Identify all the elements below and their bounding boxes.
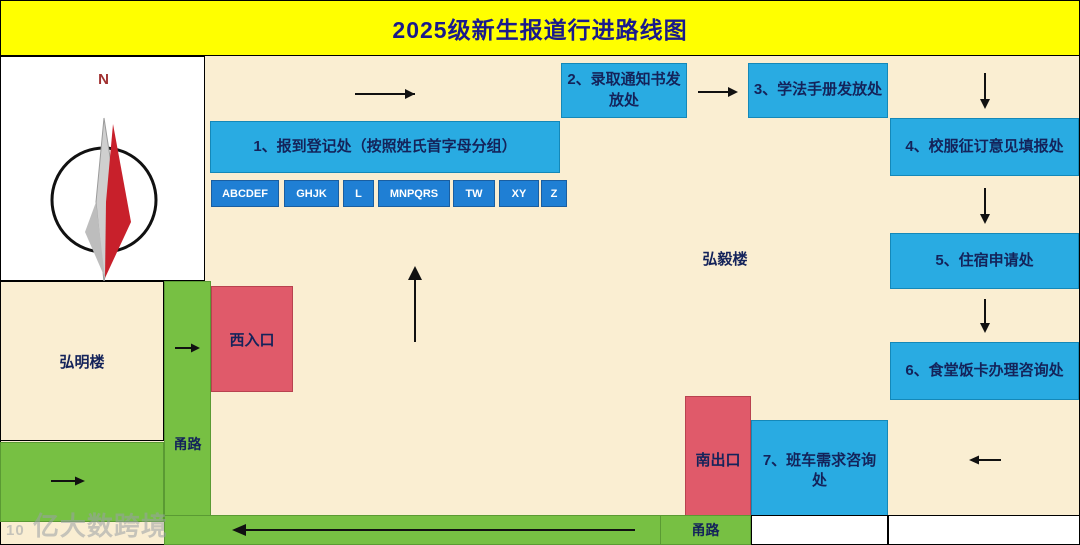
entrance-south[interactable]: 南出口 <box>685 396 751 522</box>
station-2[interactable]: 2、录取通知书发放处 <box>561 63 687 118</box>
path-yonglu-vertical: 甬路 <box>164 281 211 522</box>
group-tag-l[interactable]: L <box>343 180 374 207</box>
group-tag-label: GHJK <box>296 188 327 200</box>
building-hongming-label: 弘明楼 <box>59 351 104 372</box>
arrow-down-to-station4 <box>890 63 1079 118</box>
station-4[interactable]: 4、校服征订意见填报处 <box>890 118 1079 176</box>
arrow-left-to-station7 <box>890 440 1079 480</box>
arrow-station2-to-station3 <box>690 78 746 106</box>
watermark-prefix: 10 <box>6 522 25 539</box>
arrow-right-icon <box>47 472 93 490</box>
arrow-bottom-left-in <box>40 468 100 494</box>
group-tag-label: L <box>355 188 362 200</box>
arrow-up-icon <box>395 262 435 348</box>
group-tag-label: MNPQRS <box>390 188 438 200</box>
bottom-white-cell-left <box>751 515 888 545</box>
group-tag-label: ABCDEF <box>222 188 268 200</box>
watermark-text: 亿大数跨境 <box>33 511 168 541</box>
station-6[interactable]: 6、食堂饭卡办理咨询处 <box>890 342 1079 400</box>
station-3-label: 3、学法手册发放处 <box>754 80 882 100</box>
arrow-down-icon <box>975 184 995 228</box>
arrow-right-icon <box>215 84 555 104</box>
watermark: 10 亿大数跨境 <box>6 506 168 543</box>
arrow-up-main-path <box>395 262 435 348</box>
group-tag-mnpqrs[interactable]: MNPQRS <box>378 180 450 207</box>
arrow-down-icon <box>975 295 995 337</box>
station-2-label: 2、录取通知书发放处 <box>566 70 682 111</box>
arrow-top-to-station2 <box>210 78 560 110</box>
station-5-label: 5、住宿申请处 <box>935 251 1033 271</box>
group-tag-z[interactable]: Z <box>541 180 567 207</box>
compass-rose-icon <box>1 82 206 282</box>
building-hongyi-label: 弘毅楼 <box>640 243 810 273</box>
station-7[interactable]: 7、班车需求咨询处 <box>751 420 888 522</box>
group-tag-ghjk[interactable]: GHJK <box>284 180 339 207</box>
group-tag-abcdef[interactable]: ABCDEF <box>211 180 279 207</box>
station-5[interactable]: 5、住宿申请处 <box>890 233 1079 289</box>
station-3[interactable]: 3、学法手册发放处 <box>748 63 888 118</box>
entrance-west-label: 西入口 <box>229 329 274 350</box>
yonglu-left-label: 甬路 <box>174 434 202 454</box>
station-7-label: 7、班车需求咨询处 <box>758 451 881 492</box>
compass-box: N <box>0 56 205 281</box>
arrow-west-entrance <box>164 335 211 361</box>
station-6-label: 6、食堂饭卡办理咨询处 <box>905 361 1063 381</box>
yonglu-bottom-label: 甬路 <box>692 520 720 540</box>
group-tag-label: TW <box>465 188 482 200</box>
station-4-label: 4、校服征订意见填报处 <box>905 137 1063 157</box>
page-title: 2025级新生报道行进路线图 <box>392 11 687 45</box>
group-tag-label: XY <box>512 188 527 200</box>
building-hongyi-text: 弘毅楼 <box>702 248 747 269</box>
entrance-west[interactable]: 西入口 <box>211 286 293 392</box>
station-1-label: 1、报到登记处（按照姓氏首字母分组） <box>253 137 516 157</box>
station-1[interactable]: 1、报到登记处（按照姓氏首字母分组） <box>210 121 560 173</box>
arrow-left-icon <box>965 451 1005 469</box>
arrow-down-to-station6 <box>890 291 1079 341</box>
arrow-right-icon <box>171 339 205 357</box>
bottom-white-cell-right <box>888 515 1080 545</box>
group-tag-tw[interactable]: TW <box>453 180 495 207</box>
entrance-south-label: 南出口 <box>695 449 740 470</box>
group-tag-xy[interactable]: XY <box>499 180 539 207</box>
arrow-down-to-station5 <box>890 180 1079 232</box>
diagram-root: 2025级新生报道行进路线图 N 2、录取通知书发放处 3、学法手册发放处 <box>0 0 1080 545</box>
arrow-right-icon <box>690 82 746 102</box>
group-tag-label: Z <box>551 188 558 200</box>
diagram-title-bar: 2025级新生报道行进路线图 <box>0 0 1080 56</box>
arrow-left-icon <box>220 520 640 540</box>
path-bottom-yonglu: 甬路 <box>660 515 751 545</box>
arrow-bottom-long-left <box>215 516 645 544</box>
arrow-down-icon <box>975 69 995 113</box>
building-hongming: 弘明楼 <box>0 281 164 441</box>
